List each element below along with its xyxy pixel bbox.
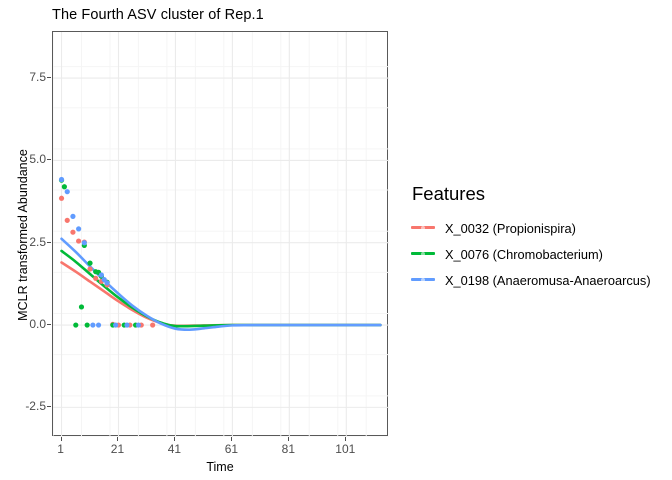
data-point	[76, 238, 81, 243]
legend-item[interactable]: X_0032 (Propionispira)	[410, 217, 651, 239]
data-point	[150, 322, 155, 327]
data-point	[62, 184, 67, 189]
x-tick-label: 1	[57, 442, 64, 456]
chart-title: The Fourth ASV cluster of Rep.1	[52, 7, 264, 23]
legend-item[interactable]: X_0198 (Anaeromusa-Anaeroarcus)	[410, 269, 651, 291]
legend-title: Features	[412, 183, 651, 205]
x-tick-mark	[117, 437, 118, 441]
data-point	[65, 218, 70, 223]
data-point	[124, 322, 129, 327]
plot-svg	[53, 32, 389, 437]
legend-item-label: X_0032 (Propionispira)	[445, 221, 576, 236]
y-axis-title: MCLR transformed Abundance	[16, 125, 30, 345]
y-tick-label: 2.5	[29, 235, 46, 249]
y-tick-label: 0.0	[29, 317, 46, 331]
x-tick-label: 61	[225, 442, 238, 456]
x-axis-title: Time	[52, 460, 388, 474]
x-tick-label: 101	[335, 442, 355, 456]
legend-item-label: X_0076 (Chromobacterium)	[445, 247, 603, 262]
data-point	[59, 196, 64, 201]
legend-key-icon	[410, 245, 436, 263]
data-point	[90, 322, 95, 327]
data-point	[96, 322, 101, 327]
y-tick-mark	[47, 159, 51, 160]
data-point	[136, 322, 141, 327]
data-point	[85, 322, 90, 327]
data-point	[93, 276, 98, 281]
legend-key-point	[421, 252, 425, 256]
x-tick-label: 41	[168, 442, 181, 456]
data-point	[113, 322, 118, 327]
y-tick-mark	[47, 77, 51, 78]
legend-key-point	[421, 226, 425, 230]
x-tick-mark	[61, 437, 62, 441]
legend-key-point	[421, 278, 425, 282]
data-point	[65, 189, 70, 194]
y-tick-mark	[47, 406, 51, 407]
legend-key-icon	[410, 271, 436, 289]
x-tick-mark	[345, 437, 346, 441]
data-point	[59, 177, 64, 182]
chart-figure: The Fourth ASV cluster of Rep.1 -2.50.02…	[0, 0, 672, 480]
legend-item[interactable]: X_0076 (Chromobacterium)	[410, 243, 651, 265]
x-tick-mark	[231, 437, 232, 441]
data-point	[87, 261, 92, 266]
data-point	[82, 240, 87, 245]
y-tick-label: 5.0	[29, 152, 46, 166]
x-tick-mark	[174, 437, 175, 441]
data-point	[105, 280, 110, 285]
data-point	[73, 322, 78, 327]
data-point	[76, 226, 81, 231]
series-line	[62, 251, 381, 326]
data-point	[99, 272, 104, 277]
data-point	[79, 304, 84, 309]
legend-item-label: X_0198 (Anaeromusa-Anaeroarcus)	[445, 273, 651, 288]
data-point	[87, 266, 92, 271]
y-tick-label: 7.5	[29, 70, 46, 84]
y-tick-mark	[47, 324, 51, 325]
x-tick-label: 81	[282, 442, 295, 456]
x-tick-label: 21	[111, 442, 124, 456]
data-point	[70, 214, 75, 219]
plot-panel	[52, 31, 388, 436]
y-tick-mark	[47, 242, 51, 243]
y-tick-label: -2.5	[25, 399, 46, 413]
x-tick-mark	[288, 437, 289, 441]
legend-items: X_0032 (Propionispira)X_0076 (Chromobact…	[410, 217, 651, 291]
data-point	[70, 230, 75, 235]
legend-key-icon	[410, 219, 436, 237]
legend: Features X_0032 (Propionispira)X_0076 (C…	[410, 183, 651, 295]
